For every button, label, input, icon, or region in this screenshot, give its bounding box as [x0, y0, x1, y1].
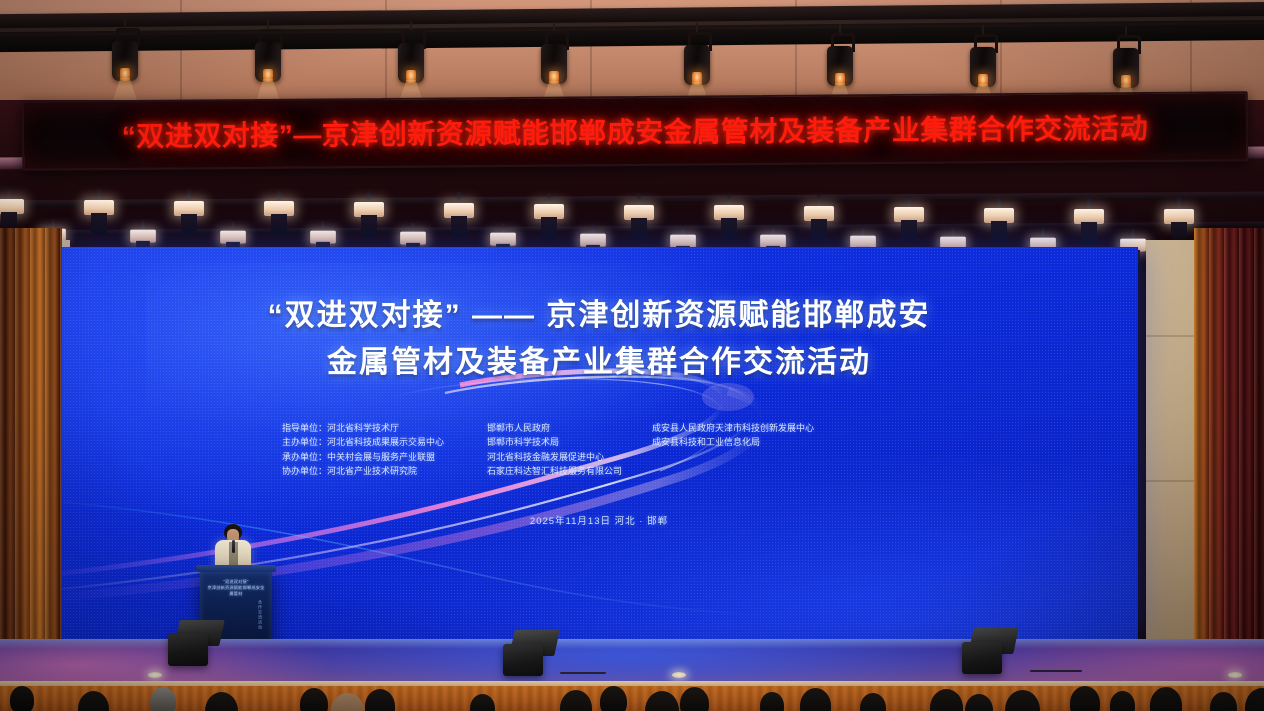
- podium-sign: “双进双对接” 京津创新资源赋能邯郸成安金属管材: [207, 579, 265, 597]
- credit-row: 承办单位：中关村会展与服务产业联盟河北省科技金融发展促进中心: [282, 450, 814, 464]
- audience-head: [10, 686, 34, 711]
- organizer-credits: 指导单位：河北省科学技术厅邯郸市人民政府成安县人民政府天津市科技创新发展中心主办…: [282, 421, 814, 479]
- credit-row: 主办单位：河北省科技成果展示交易中心邯郸市科学技术局成安县科技和工业信息化局: [282, 435, 814, 449]
- credit-cell: 成安县科技和工业信息化局: [652, 435, 760, 449]
- credit-cell: 成安县人民政府: [652, 421, 715, 435]
- podium-side-text: 合作交流活动: [257, 600, 263, 630]
- led-bar-fixture-icon: [1074, 198, 1104, 244]
- audience-head: [600, 686, 627, 711]
- credit-cell: 石家庄科达智汇科技服务有限公司: [487, 464, 652, 478]
- led-bar-fixture-icon: [264, 190, 294, 236]
- stage-spotlight-icon: [1109, 35, 1143, 97]
- podium-sign-line2: 京津创新资源赋能邯郸成安金属管材: [207, 585, 265, 597]
- led-bar-fixture-icon: [714, 194, 744, 240]
- speaker-cable: [560, 672, 606, 674]
- stage-spotlight-icon: [823, 33, 857, 95]
- credit-cell: 指导单位：河北省科学技术厅: [282, 421, 487, 435]
- led-bar-fixture-icon: [624, 194, 654, 240]
- credit-row: 指导单位：河北省科学技术厅邯郸市人民政府成安县人民政府天津市科技创新发展中心: [282, 421, 814, 435]
- stage-monitor-speaker: [503, 630, 557, 676]
- floor-uplight: [1228, 672, 1242, 678]
- credit-cell: 邯郸市人民政府: [487, 421, 652, 435]
- stage-spotlight-icon: [537, 31, 571, 93]
- stage-spotlight-icon: [394, 30, 428, 92]
- stage-spotlight-icon: [251, 29, 285, 91]
- screen-title-line2: 金属管材及装备产业集群合作交流活动: [60, 340, 1138, 387]
- audience-head: [150, 687, 176, 711]
- speaker-cable: [1030, 670, 1082, 672]
- podium-top-surface: [196, 565, 276, 572]
- led-bar-fixture-icon: [1164, 198, 1194, 244]
- credit-cell: 河北省科技金融发展促进中心: [487, 450, 652, 464]
- floor-uplight: [148, 672, 162, 678]
- stage-spotlight-icon: [966, 34, 1000, 96]
- led-banner: “双进双对接”—京津创新资源赋能邯郸成安金属管材及装备产业集群合作交流活动: [22, 91, 1249, 171]
- credit-cell: 主办单位：河北省科技成果展示交易中心: [282, 435, 487, 449]
- credit-cell: 天津市科技创新发展中心: [715, 421, 814, 435]
- led-bar-fixture-icon: [804, 195, 834, 241]
- led-bar-fixture-icon: [534, 193, 564, 239]
- auditorium-stage-photo: “双进双对接”—京津创新资源赋能邯郸成安金属管材及装备产业集群合作交流活动: [0, 0, 1264, 711]
- screen-title: “双进双对接” —— 京津创新资源赋能邯郸成安 金属管材及装备产业集群合作交流活…: [60, 293, 1138, 386]
- credit-cell: 承办单位：中关村会展与服务产业联盟: [282, 450, 487, 464]
- led-bar-fixture-icon: [354, 191, 384, 237]
- led-banner-text: “双进双对接”—京津创新资源赋能邯郸成安金属管材及装备产业集群合作交流活动: [122, 107, 1149, 155]
- microphone-icon: [232, 540, 235, 553]
- led-bar-fixture-icon: [84, 189, 114, 235]
- credit-row: 协办单位：河北省产业技术研究院石家庄科达智汇科技服务有限公司: [282, 464, 814, 478]
- stage-monitor-speaker: [962, 628, 1016, 674]
- stage-curtain-right: [1194, 228, 1264, 664]
- led-bar-fixture-icon: [894, 196, 924, 242]
- led-bar-fixture-icon: [444, 192, 474, 238]
- led-bar-fixture-icon: [174, 190, 204, 236]
- stage-spotlight-icon: [680, 32, 714, 94]
- stage-curtain-left: [0, 228, 62, 664]
- credit-cell: 邯郸市科学技术局: [487, 435, 652, 449]
- stage-spotlight-icon: [108, 28, 142, 90]
- floor-uplight: [672, 672, 686, 678]
- led-bar-fixture-icon: [984, 197, 1014, 243]
- stage-monitor-speaker: [168, 620, 222, 666]
- credit-cell: 协办单位：河北省产业技术研究院: [282, 464, 487, 478]
- screen-title-line1: “双进双对接” —— 京津创新资源赋能邯郸成安: [268, 299, 931, 332]
